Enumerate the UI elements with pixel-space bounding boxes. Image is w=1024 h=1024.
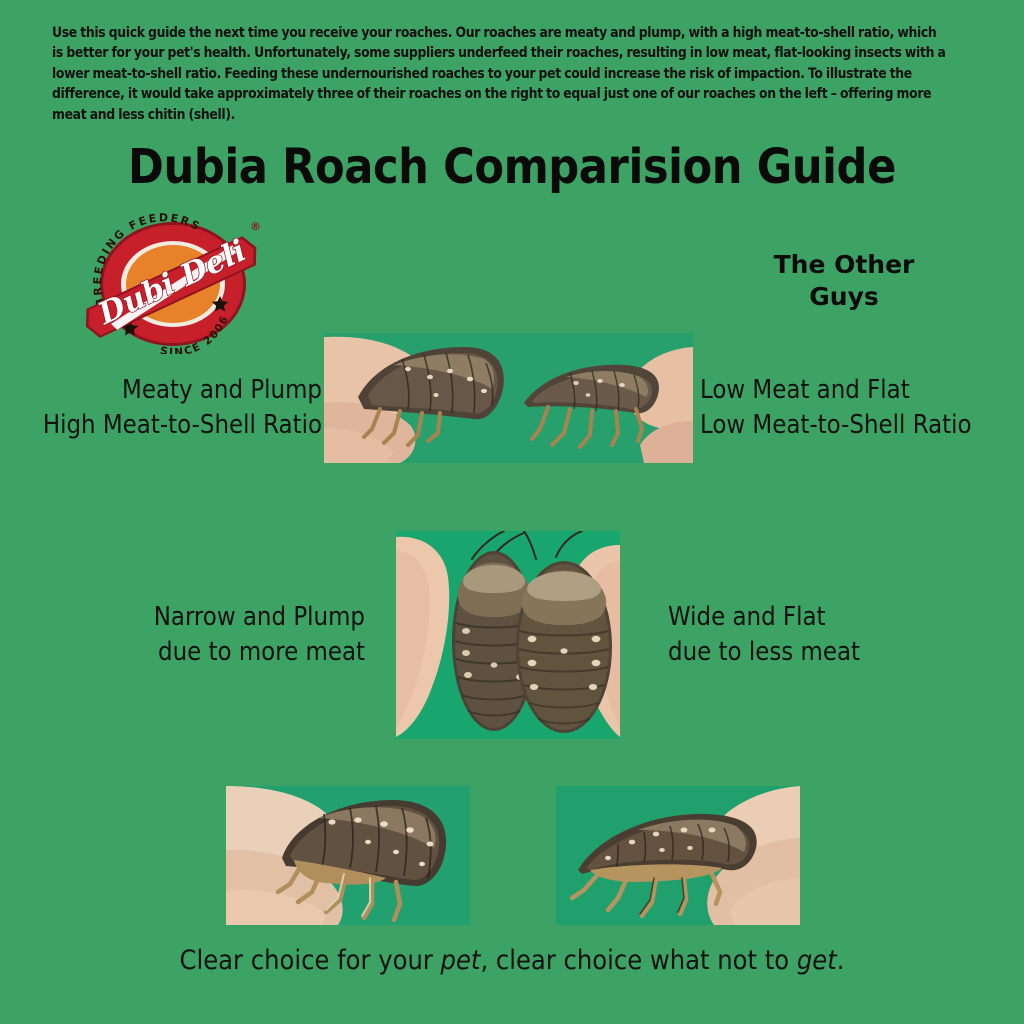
row-1-left-caption: Meaty and Plump High Meat-to-Shell Ratio — [0, 373, 328, 443]
dubi-deli-logo: BREEDING FEEDERS SINCE 2006 Dubi Deli — [78, 212, 268, 354]
intro-paragraph: Use this quick guide the next time you r… — [52, 23, 949, 125]
row-1-right-caption: Low Meat and Flat Low Meat-to-Shell Rati… — [700, 373, 1024, 443]
row-2-comparison-photo — [396, 531, 620, 739]
competitor-header-line1: The Other — [744, 249, 944, 281]
bottom-caption-part2: , clear choice what not to — [480, 945, 796, 976]
bottom-caption: Clear choice for your pet, clear choice … — [0, 944, 1024, 978]
row-3-left-photo — [226, 786, 470, 925]
poster-canvas: Use this quick guide the next time you r… — [0, 0, 1024, 1024]
logo-registered-mark: ® — [250, 220, 261, 233]
bottom-caption-part3: . — [837, 945, 845, 976]
page-title: Dubia Roach Comparision Guide — [0, 139, 1024, 195]
bottom-caption-italic-get: get — [797, 945, 837, 976]
row-2-left-caption: Narrow and Plump due to more meat — [0, 600, 373, 670]
bottom-caption-part1: Clear choice for your — [180, 945, 441, 976]
bottom-caption-italic-pet: pet — [441, 945, 481, 976]
competitor-header: The Other Guys — [744, 249, 944, 313]
row-1-comparison-photo — [324, 333, 693, 463]
competitor-header-line2: Guys — [744, 281, 944, 313]
row-2-right-caption: Wide and Flat due to less meat — [668, 600, 1018, 670]
row-3-right-photo — [556, 786, 800, 925]
